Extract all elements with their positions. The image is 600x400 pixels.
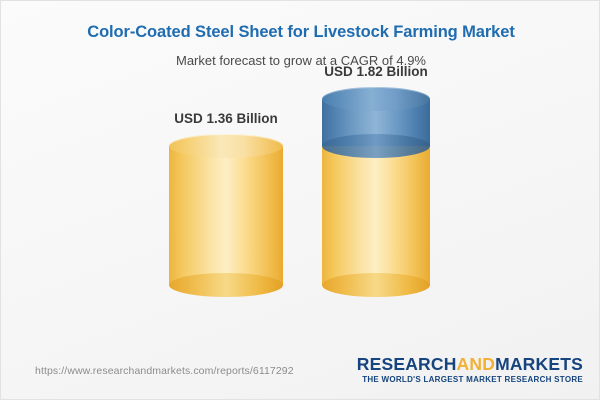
- logo-tagline: THE WORLD'S LARGEST MARKET RESEARCH STOR…: [357, 375, 583, 384]
- logo-wordmark: RESEARCHANDMARKETS: [357, 355, 583, 373]
- logo-word-and: AND: [457, 354, 496, 374]
- chart-subtitle: Market forecast to grow at a CAGR of 4.9…: [1, 53, 600, 68]
- bar-cylinder-2032[interactable]: [322, 99, 430, 285]
- market-forecast-infographic: Color-Coated Steel Sheet for Livestock F…: [0, 0, 600, 400]
- bar-segment-bottom-cap: [169, 273, 283, 297]
- bar-value-label-2032: USD 1.82 Billion: [324, 64, 428, 79]
- bar-segment-bottom-cap: [322, 273, 430, 297]
- page-title: Color-Coated Steel Sheet for Livestock F…: [1, 23, 600, 42]
- chart-plot-area: USD 1.36 Billion 2026 USD 1.82 Billion: [1, 81, 600, 343]
- bar-segment-body: [322, 146, 430, 285]
- logo-word-research: RESEARCH: [357, 354, 457, 374]
- bar-segment-bottom-cap: [322, 134, 430, 158]
- bar-segment-growth-2032: [322, 99, 430, 146]
- bar-segment-body: [169, 146, 283, 285]
- bar-segment-base-2032: [322, 146, 430, 285]
- footer: https://www.researchandmarkets.com/repor…: [1, 347, 600, 399]
- bar-segment-base-2026: [169, 146, 283, 285]
- logo-word-markets: MARKETS: [495, 354, 583, 374]
- report-url[interactable]: https://www.researchandmarkets.com/repor…: [35, 365, 294, 377]
- bar-cylinder-2026[interactable]: [169, 146, 283, 285]
- bar-segment-top-cap: [322, 87, 430, 111]
- bar-value-label-2026: USD 1.36 Billion: [174, 111, 278, 126]
- research-and-markets-logo[interactable]: RESEARCHANDMARKETS THE WORLD'S LARGEST M…: [357, 355, 583, 384]
- bar-segment-top-cap: [169, 134, 283, 158]
